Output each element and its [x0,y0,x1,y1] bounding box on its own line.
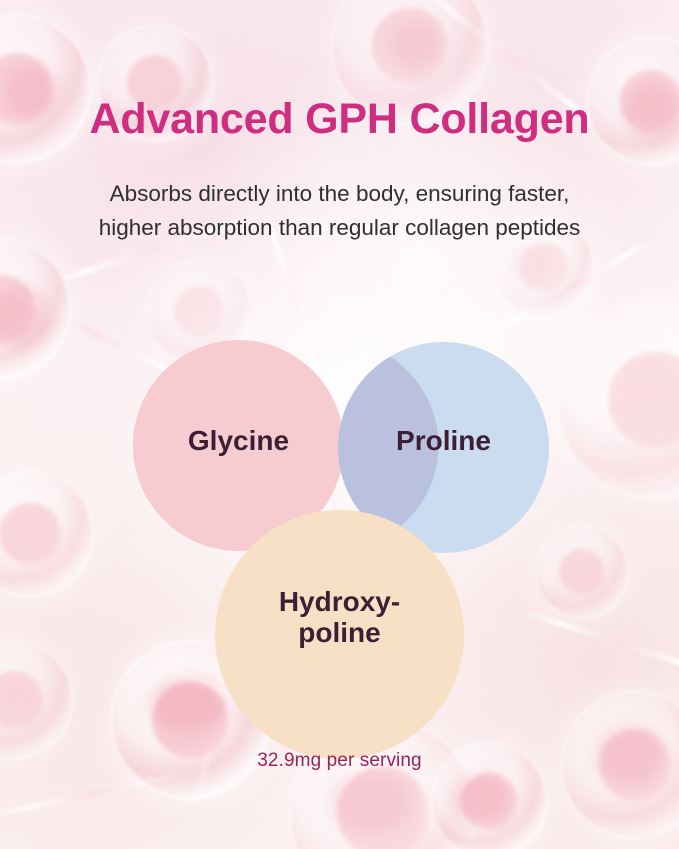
venn-label-glycine: Glycine [133,425,344,456]
serving-note: 32.9mg per serving [0,750,679,772]
venn-label-hydroxyproline: Hydroxy- poline [215,586,464,649]
venn-label-proline: Proline [338,425,549,456]
page-title: Advanced GPH Collagen [0,96,679,142]
page-subtitle-line-2: higher absorption than regular collagen … [0,211,679,245]
page-subtitle: Absorbs directly into the body, ensuring… [0,177,679,245]
venn-diagram: Glycine Proline Hydroxy- poline [0,330,679,730]
product-benefit-poster: Advanced GPH Collagen Absorbs directly i… [0,0,679,849]
venn-label-hydroxyproline-line-1: Hydroxy- [215,586,464,617]
page-subtitle-line-1: Absorbs directly into the body, ensuring… [0,177,679,211]
venn-label-hydroxyproline-line-2: poline [215,617,464,648]
